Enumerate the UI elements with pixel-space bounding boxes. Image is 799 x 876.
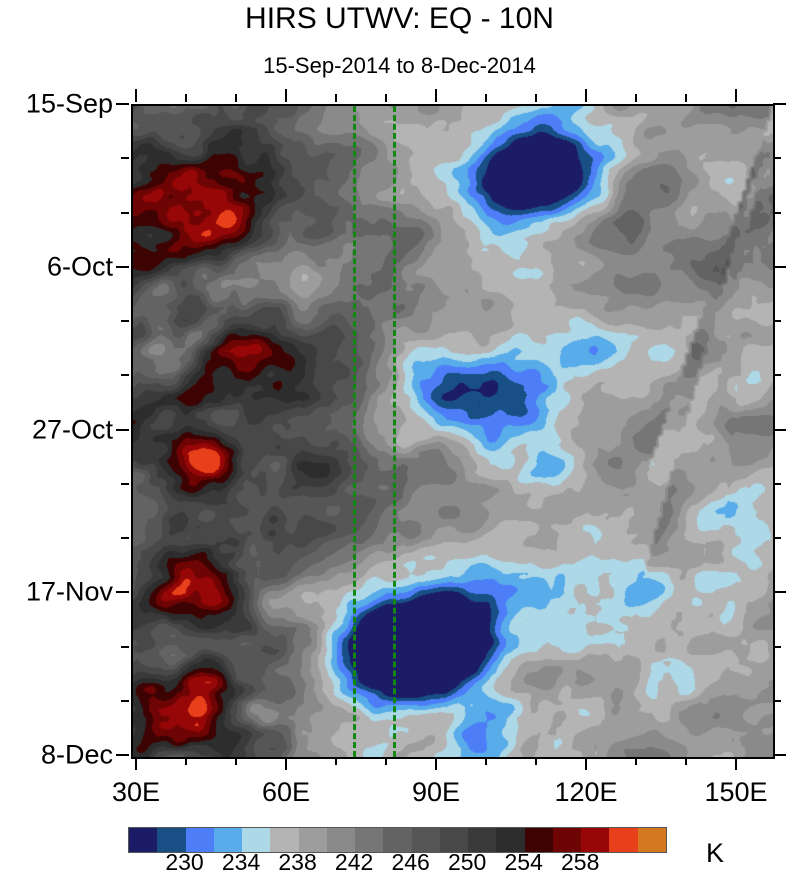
x-top-tick-150 <box>735 94 737 102</box>
figure-subtitle: 15-Sep-2014 to 8-Dec-2014 <box>0 53 799 79</box>
x-major-tick-30 <box>135 757 137 770</box>
y-axis-label-15-sep: 15-Sep <box>26 89 113 120</box>
x-minor-tick-40 <box>185 757 187 765</box>
y-right-tick-70 <box>773 646 781 648</box>
x-axis-label-120e: 120E <box>554 777 617 808</box>
x-minor-tick-70 <box>335 757 337 765</box>
colorbar-label-242: 242 <box>335 849 373 876</box>
x-top-tick-90 <box>435 89 437 102</box>
x-top-tick-50 <box>235 94 237 102</box>
x-top-tick-80 <box>385 94 387 102</box>
y-axis-label-17-nov: 17-Nov <box>26 577 113 608</box>
x-major-tick-90 <box>435 757 437 770</box>
x-axis-label-30e: 30E <box>112 777 160 808</box>
x-minor-tick-130 <box>635 757 637 765</box>
y-minor-tick-28 <box>121 320 129 322</box>
y-right-tick-28 <box>773 320 781 322</box>
x-top-tick-100 <box>485 94 487 102</box>
x-minor-tick-110 <box>535 757 537 765</box>
y-axis-label-8-dec: 8-Dec <box>41 740 113 771</box>
colorbar-label-238: 238 <box>278 849 316 876</box>
y-right-tick-49 <box>773 483 781 485</box>
x-top-tick-110 <box>535 94 537 102</box>
y-right-tick-56 <box>773 537 781 539</box>
colorbar-label-254: 254 <box>504 849 542 876</box>
y-right-tick-63 <box>773 591 786 593</box>
x-minor-tick-80 <box>385 757 387 765</box>
y-axis-label-6-oct: 6-Oct <box>47 251 113 282</box>
y-right-tick-35 <box>773 374 781 376</box>
y-right-tick-84 <box>773 754 786 756</box>
x-top-tick-60 <box>285 89 287 102</box>
y-major-tick-42 <box>116 429 129 431</box>
y-minor-tick-49 <box>121 483 129 485</box>
y-minor-tick-56 <box>121 537 129 539</box>
x-top-tick-40 <box>185 94 187 102</box>
colorbar-label-258: 258 <box>561 849 599 876</box>
y-major-tick-63 <box>116 591 129 593</box>
x-minor-tick-50 <box>235 757 237 765</box>
x-top-tick-70 <box>335 94 337 102</box>
colorbar-unit-label: K <box>706 838 724 869</box>
page-title: HIRS UTWV: EQ - 10N <box>0 2 799 36</box>
x-minor-tick-150 <box>735 757 737 765</box>
x-major-tick-60 <box>285 757 287 770</box>
y-right-tick-0 <box>773 103 786 105</box>
hovmoller-plot-area[interactable] <box>131 104 775 759</box>
y-major-tick-84 <box>116 754 129 756</box>
colorbar-label-230: 230 <box>165 849 203 876</box>
x-top-tick-30 <box>135 89 137 102</box>
y-minor-tick-70 <box>121 646 129 648</box>
x-top-tick-140 <box>685 94 687 102</box>
y-minor-tick-14 <box>121 212 129 214</box>
x-axis-label-150e: 150E <box>704 777 767 808</box>
y-right-tick-21 <box>773 266 786 268</box>
y-major-tick-21 <box>116 266 129 268</box>
y-right-tick-14 <box>773 212 781 214</box>
x-major-tick-120 <box>585 757 587 770</box>
contour-field <box>133 106 773 757</box>
x-top-tick-130 <box>635 94 637 102</box>
y-axis-label-27-oct: 27-Oct <box>32 414 113 445</box>
figure-canvas: HIRS UTWV: EQ - 10N 15-Sep-2014 to 8-Dec… <box>0 0 799 869</box>
x-top-tick-120 <box>585 89 587 102</box>
x-minor-tick-140 <box>685 757 687 765</box>
y-major-tick-0 <box>116 103 129 105</box>
annotation-vline-1 <box>353 106 356 757</box>
y-right-tick-7 <box>773 157 781 159</box>
colorbar-label-234: 234 <box>222 849 260 876</box>
y-right-tick-77 <box>773 700 781 702</box>
x-axis-label-90e: 90E <box>412 777 460 808</box>
y-minor-tick-7 <box>121 157 129 159</box>
y-right-tick-42 <box>773 429 786 431</box>
y-minor-tick-77 <box>121 700 129 702</box>
colorbar-label-250: 250 <box>448 849 486 876</box>
y-minor-tick-35 <box>121 374 129 376</box>
colorbar-swatch-17 <box>609 828 637 852</box>
annotation-vline-2 <box>393 106 396 757</box>
colorbar-label-246: 246 <box>391 849 429 876</box>
colorbar-swatch-0 <box>129 828 157 852</box>
colorbar-swatch-18 <box>638 828 666 852</box>
x-axis-label-60e: 60E <box>262 777 310 808</box>
x-minor-tick-100 <box>485 757 487 765</box>
